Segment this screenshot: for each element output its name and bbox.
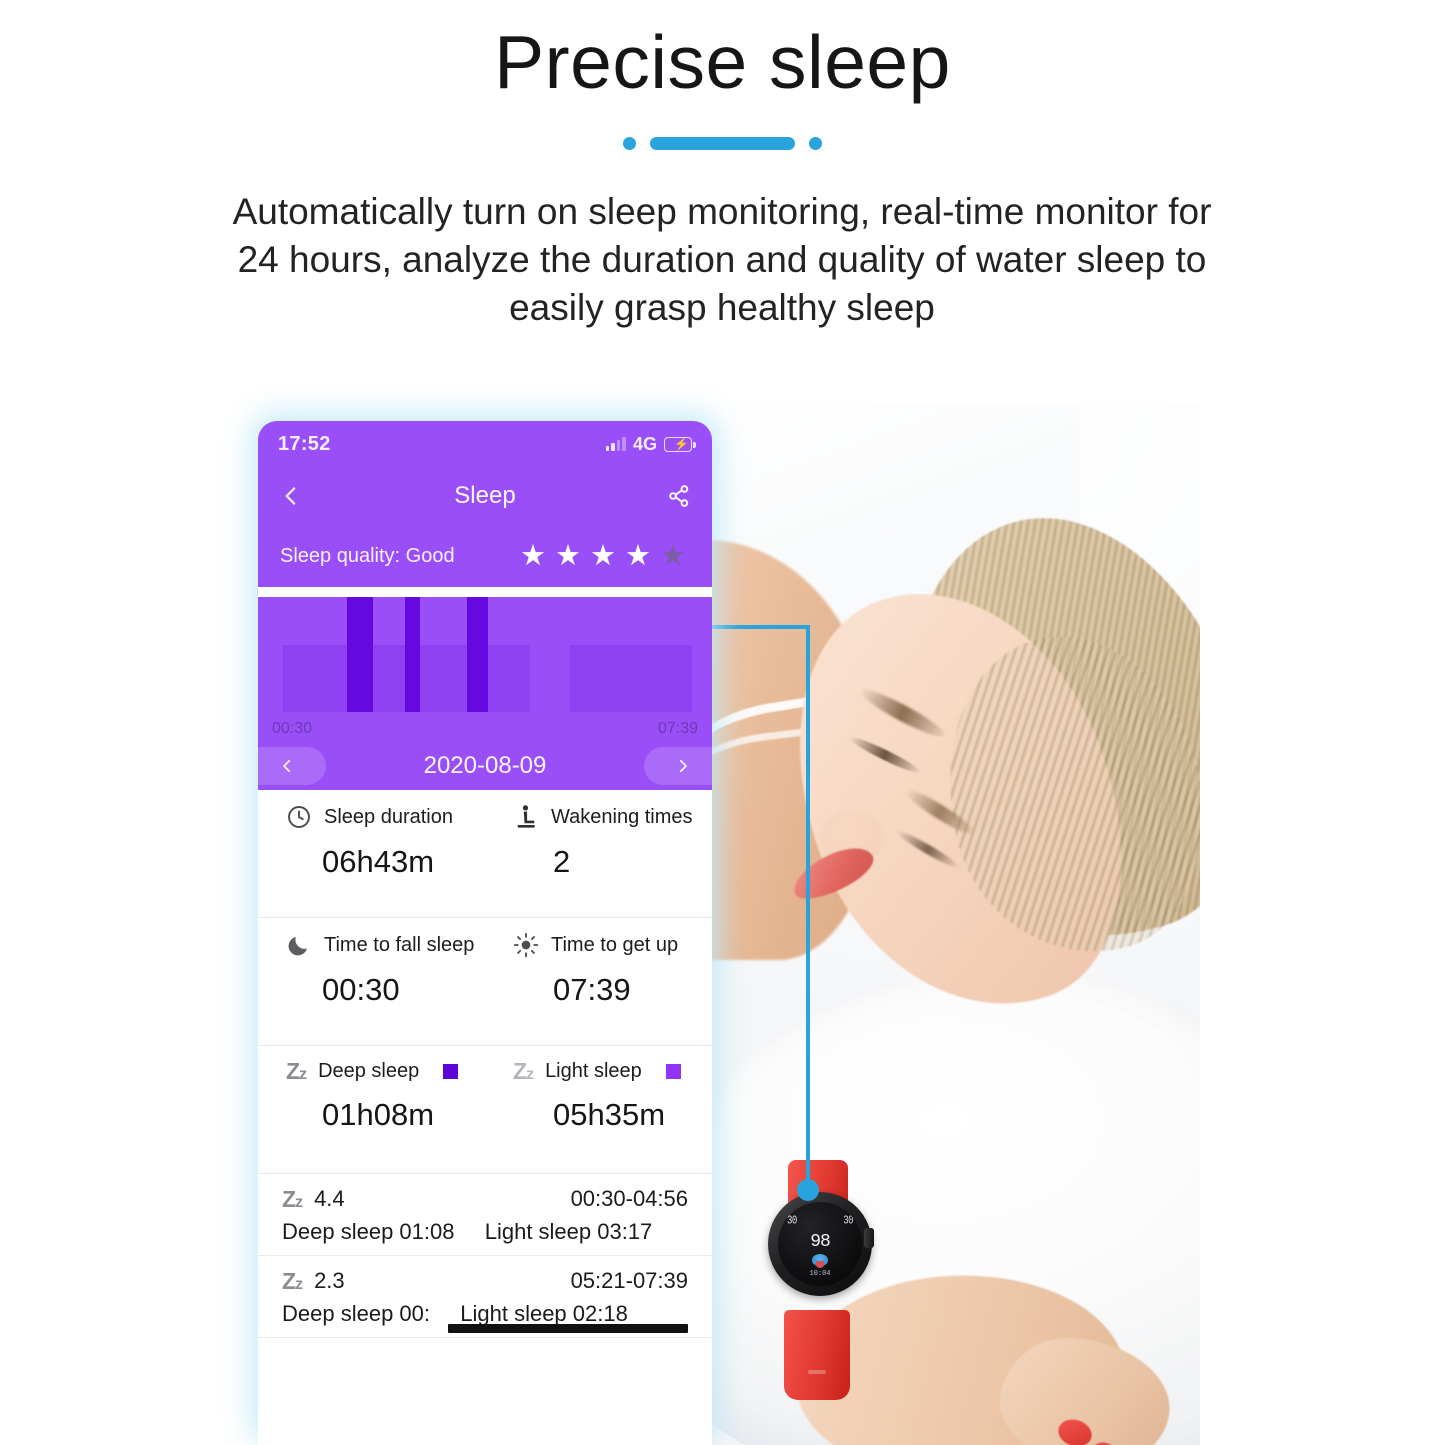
redaction-bar xyxy=(448,1324,688,1333)
sleep-session-row[interactable]: Zz 4.4 00:30-04:56 Deep sleep 01:08 Ligh… xyxy=(258,1174,712,1256)
watch-time: 10:04 xyxy=(778,1270,862,1278)
star-icon-2: ★ xyxy=(555,542,581,571)
stat-label-fall-sleep: Time to fall sleep xyxy=(324,934,474,957)
session-deep-sleep: Deep sleep 01:08 xyxy=(282,1219,454,1244)
session-light-sleep: Light sleep 02:18 xyxy=(460,1301,628,1326)
watch-metric-right: 30 xyxy=(843,1214,853,1228)
star-icon-5: ★ xyxy=(660,542,686,571)
chart-axis-start: 00:30 xyxy=(272,720,312,738)
headline-block: Precise sleep xyxy=(0,22,1445,103)
light-sleep-color-swatch xyxy=(666,1064,681,1079)
stat-card-sleep-stages: Zz Deep sleep Zz Light sleep 01h08m 05h3… xyxy=(258,1046,712,1174)
star-icon-3: ★ xyxy=(590,542,616,571)
status-bar: 17:52 4G ⚡ xyxy=(258,421,712,467)
date-navigator: 2020-08-09 xyxy=(258,742,712,790)
page-title: Precise sleep xyxy=(0,22,1445,103)
watch-main-metric: 98 xyxy=(778,1232,862,1252)
sun-icon xyxy=(513,932,539,958)
session-light-sleep: Light sleep 03:17 xyxy=(485,1219,653,1244)
stat-label-wakening-times: Wakening times xyxy=(551,806,693,829)
zz-icon: Zz xyxy=(513,1060,533,1083)
stat-card-duration: Sleep duration Wakening times 06h43m 2 xyxy=(258,790,712,918)
deep-sleep-bar-1 xyxy=(347,597,373,712)
session-score: 2.3 xyxy=(314,1268,345,1294)
divider-bar xyxy=(650,137,795,150)
stat-label-deep-sleep: Deep sleep xyxy=(318,1060,419,1083)
star-rating: ★ ★ ★ ★ ★ xyxy=(520,542,690,571)
clock-icon xyxy=(286,804,312,830)
selected-date-label: 2020-08-09 xyxy=(258,752,712,780)
network-type-label: 4G xyxy=(633,434,657,455)
app-bar: Sleep xyxy=(258,467,712,525)
star-icon-1: ★ xyxy=(520,542,546,571)
page-subcopy: Automatically turn on sleep monitoring, … xyxy=(222,188,1222,332)
stat-cell-light-sleep: Zz Light sleep xyxy=(485,1060,712,1083)
chart-axis-labels: 00:30 07:39 xyxy=(272,720,698,738)
deep-sleep-bar-3 xyxy=(467,597,488,712)
watch-strap-bottom xyxy=(784,1310,850,1400)
stat-value-deep-sleep: 01h08m xyxy=(258,1097,481,1133)
watch-crown-button xyxy=(864,1228,874,1248)
app-bar-title: Sleep xyxy=(258,482,712,510)
zz-icon: Zz xyxy=(282,1188,302,1211)
stat-value-wakening-times: 2 xyxy=(481,844,712,880)
sleep-stage-chart: 00:30 07:39 xyxy=(258,597,712,742)
divider-dot-right xyxy=(809,137,822,150)
stat-label-light-sleep: Light sleep xyxy=(545,1060,642,1083)
deep-sleep-bar-2 xyxy=(405,597,420,712)
stat-value-sleep-duration: 06h43m xyxy=(258,844,481,880)
umbrella-icon xyxy=(812,1254,828,1266)
light-sleep-block-2 xyxy=(570,645,691,712)
deep-sleep-color-swatch xyxy=(443,1064,458,1079)
decorative-divider xyxy=(0,130,1445,156)
smartwatch: 30 30 98 10:04 xyxy=(760,1160,880,1400)
zz-icon: Zz xyxy=(286,1060,306,1083)
zz-icon: Zz xyxy=(282,1270,302,1293)
sleep-quality-label: Sleep quality: Good xyxy=(280,545,455,568)
sleep-quality-row: Sleep quality: Good ★ ★ ★ ★ ★ xyxy=(258,525,712,587)
signal-bars-icon xyxy=(606,437,626,451)
chart-axis-end: 07:39 xyxy=(658,720,698,738)
stat-label-get-up: Time to get up xyxy=(551,934,678,957)
watch-strap-keeper xyxy=(808,1370,826,1374)
stat-label-sleep-duration: Sleep duration xyxy=(324,806,453,829)
stat-cell-deep-sleep: Zz Deep sleep xyxy=(258,1060,485,1083)
stat-value-get-up: 07:39 xyxy=(481,972,712,1008)
session-time-range: 00:30-04:56 xyxy=(571,1186,688,1212)
promo-page: Precise sleep Automatically turn on slee… xyxy=(0,0,1445,1445)
chart-plot-area xyxy=(272,597,698,712)
stat-card-times: Time to fall sleep xyxy=(258,918,712,1046)
stat-cell-get-up: Time to get up xyxy=(485,932,712,958)
stat-cell-fall-sleep: Time to fall sleep xyxy=(258,932,485,958)
person-sitting-up-icon xyxy=(513,804,539,830)
battery-charging-icon: ⚡ xyxy=(664,437,692,452)
stat-cell-sleep-duration: Sleep duration xyxy=(258,804,485,830)
stat-value-light-sleep: 05h35m xyxy=(481,1097,712,1133)
divider-dot-left xyxy=(623,137,636,150)
moon-icon xyxy=(286,932,312,958)
session-deep-sleep: Deep sleep 00: xyxy=(282,1301,430,1326)
star-icon-4: ★ xyxy=(625,542,651,571)
stat-cell-wakening-times: Wakening times xyxy=(485,804,712,830)
status-clock: 17:52 xyxy=(278,433,331,456)
phone-mockup: 17:52 4G ⚡ Sleep xyxy=(258,421,712,1445)
watch-metric-left: 30 xyxy=(787,1214,797,1228)
session-time-range: 05:21-07:39 xyxy=(571,1268,688,1294)
session-score: 4.4 xyxy=(314,1186,345,1212)
watch-screen: 30 30 98 10:04 xyxy=(778,1202,862,1286)
sleeping-woman-photo: 30 30 98 10:04 xyxy=(700,405,1200,1445)
stat-value-fall-sleep: 00:30 xyxy=(258,972,481,1008)
sleep-session-row[interactable]: Zz 2.3 05:21-07:39 Deep sleep 00: Light … xyxy=(258,1256,712,1338)
